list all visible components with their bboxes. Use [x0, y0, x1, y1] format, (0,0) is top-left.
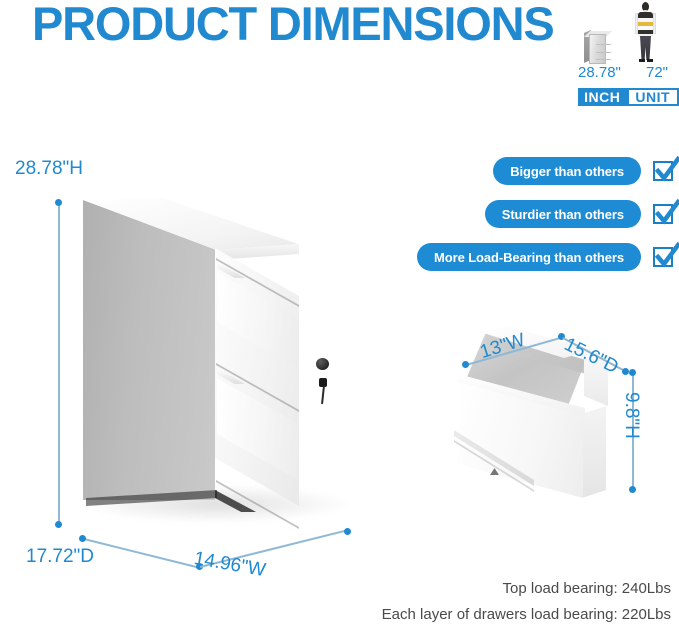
top-load-bearing-text: Top load bearing: 240Lbs [382, 576, 671, 602]
page-title: PRODUCT DIMENSIONS [32, 0, 554, 51]
lock-icon [310, 358, 334, 400]
person-icon [630, 2, 660, 64]
scale-labels: 28.78" 72" [578, 64, 679, 84]
checkmark-icon [653, 201, 679, 227]
scale-figures [578, 2, 679, 64]
feature-badge-list: Bigger than others Sturdier than others … [400, 155, 679, 284]
cabinet-side-panel [83, 200, 215, 500]
drawer-illustration: 13"W 15.6"D 9.8"H [430, 320, 679, 520]
height-dimension-dot-bottom [55, 521, 62, 528]
checkmark-icon [653, 244, 679, 270]
drawer-width-dot-left [462, 361, 469, 368]
cabinet-scale-height: 28.78" [578, 64, 621, 81]
scale-comparison: 28.78" 72" INCH UNIT [578, 2, 679, 110]
feature-badge-sturdier[interactable]: Sturdier than others [485, 200, 641, 228]
cabinet-illustration: 28.78"H 17.72"D 14.96"W [0, 150, 400, 570]
feature-row: Sturdier than others [400, 198, 679, 230]
unit-label[interactable]: UNIT [627, 88, 679, 106]
product-dimensions-infographic: PRODUCT DIMENSIONS [0, 0, 679, 636]
drawer-depth-dot [622, 368, 629, 375]
width-dimension-dot [344, 528, 351, 535]
unit-toggle[interactable]: INCH UNIT [578, 88, 679, 106]
load-bearing-info: Top load bearing: 240Lbs Each layer of d… [382, 576, 671, 628]
drawer-load-bearing-text: Each layer of drawers load bearing: 220L… [382, 602, 671, 628]
file-cabinet-icon [584, 30, 610, 64]
unit-inch-option[interactable]: INCH [578, 88, 627, 106]
height-dimension-dot-top [55, 199, 62, 206]
cabinet-depth-label: 17.72"D [26, 546, 94, 568]
feature-row: More Load-Bearing than others [400, 241, 679, 273]
depth-dimension-dot [79, 535, 86, 542]
feature-badge-load-bearing[interactable]: More Load-Bearing than others [417, 243, 641, 271]
feature-row: Bigger than others [400, 155, 679, 187]
height-dimension-line [58, 202, 60, 524]
drawer-right-panel [582, 406, 606, 506]
person-scale-height: 72" [646, 64, 668, 81]
feature-badge-bigger[interactable]: Bigger than others [493, 157, 641, 185]
cabinet-height-label: 28.78"H [15, 158, 83, 180]
drawer-height-dot-top [629, 369, 636, 376]
drawer-height-dot-bottom [629, 486, 636, 493]
depth-dimension-line [84, 538, 201, 568]
checkmark-icon [653, 158, 679, 184]
drawer-height-label: 9.8"H [620, 392, 642, 439]
